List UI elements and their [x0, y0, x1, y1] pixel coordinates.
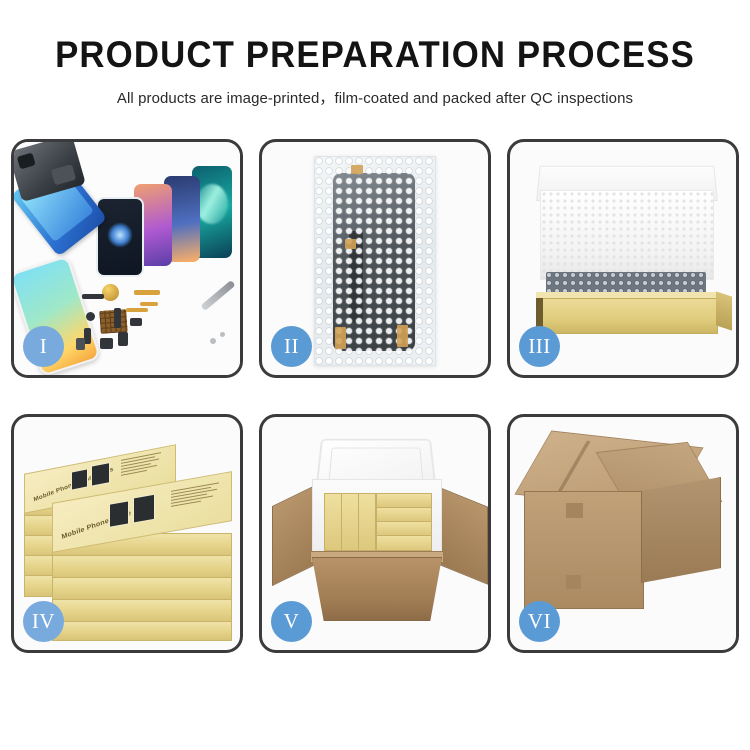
inner-yellow-box-2: [341, 493, 359, 551]
inner-yellow-box-1: [324, 493, 342, 551]
inner-yellow-box-5: [376, 507, 432, 522]
process-step-panel-5[interactable]: V: [259, 414, 491, 653]
screen-glass-panel: [96, 197, 144, 277]
inner-yellow-box-4: [376, 493, 432, 508]
bubble-texture: [315, 157, 435, 365]
part-block-3: [130, 318, 142, 326]
tape-bottom-left: [335, 327, 346, 349]
tape-bottom-right: [397, 325, 408, 347]
stacked-box-r4: [52, 599, 232, 623]
flex-cable-3: [126, 308, 148, 312]
part-block-2: [118, 332, 128, 346]
bubble-wrap-bag: [314, 156, 436, 366]
lid-text-block-a: [121, 451, 165, 478]
stacked-box-r3: [52, 577, 232, 601]
process-step-panel-6[interactable]: VI: [507, 414, 739, 653]
part-strip-3: [114, 308, 121, 328]
screw-1: [210, 338, 216, 344]
process-step-panel-3[interactable]: III: [507, 139, 739, 378]
part-strip-2: [84, 328, 91, 344]
process-steps-grid: I II III: [11, 139, 739, 739]
speaker-component-icon: [102, 284, 119, 301]
tape-middle: [345, 239, 356, 249]
lid-window-a2: [91, 462, 110, 487]
stacked-box-r2: [52, 555, 232, 579]
part-block-1: [100, 338, 113, 349]
box-front-panel: [536, 298, 718, 334]
flex-cable-2: [140, 302, 158, 306]
part-round-1: [86, 312, 95, 321]
step-badge-1: I: [23, 326, 64, 367]
tape-top: [351, 165, 363, 174]
screw-2: [220, 332, 225, 337]
page-header: PRODUCT PREPARATION PROCESS All products…: [0, 0, 750, 108]
step-badge-3: III: [519, 326, 560, 367]
foam-sheet-back: [540, 190, 714, 280]
stacked-box-r5: [52, 621, 232, 641]
box-right-side: [716, 291, 732, 330]
carton-side-face: [641, 477, 721, 583]
lid-window-a1: [71, 468, 88, 490]
process-step-panel-4[interactable]: Mobile Phone Spare Parts Mobile Phone Sp…: [11, 414, 243, 653]
step-badge-4: IV: [23, 601, 64, 642]
carton-tab-lower: [566, 575, 581, 589]
inner-yellow-box-7: [376, 535, 432, 551]
step-badge-5: V: [271, 601, 312, 642]
page-title: PRODUCT PREPARATION PROCESS: [23, 36, 728, 75]
carton-tab-upper: [566, 503, 583, 518]
lid-window-b1: [109, 500, 129, 528]
part-block-4: [76, 338, 85, 350]
part-strip-1: [82, 294, 104, 299]
flex-cable-1: [134, 290, 160, 295]
carton-body: [312, 557, 442, 621]
inner-yellow-box-6: [376, 521, 432, 536]
step-badge-2: II: [271, 326, 312, 367]
lid-text-block-b: [171, 482, 223, 509]
process-step-panel-1[interactable]: I: [11, 139, 243, 378]
step-badge-6: VI: [519, 601, 560, 642]
carton-front-face: [524, 491, 644, 609]
page-subtitle: All products are image-printed，film-coat…: [6, 86, 745, 108]
process-step-panel-2[interactable]: II: [259, 139, 491, 378]
lid-window-b2: [133, 494, 155, 524]
inner-yellow-box-3: [358, 493, 376, 551]
